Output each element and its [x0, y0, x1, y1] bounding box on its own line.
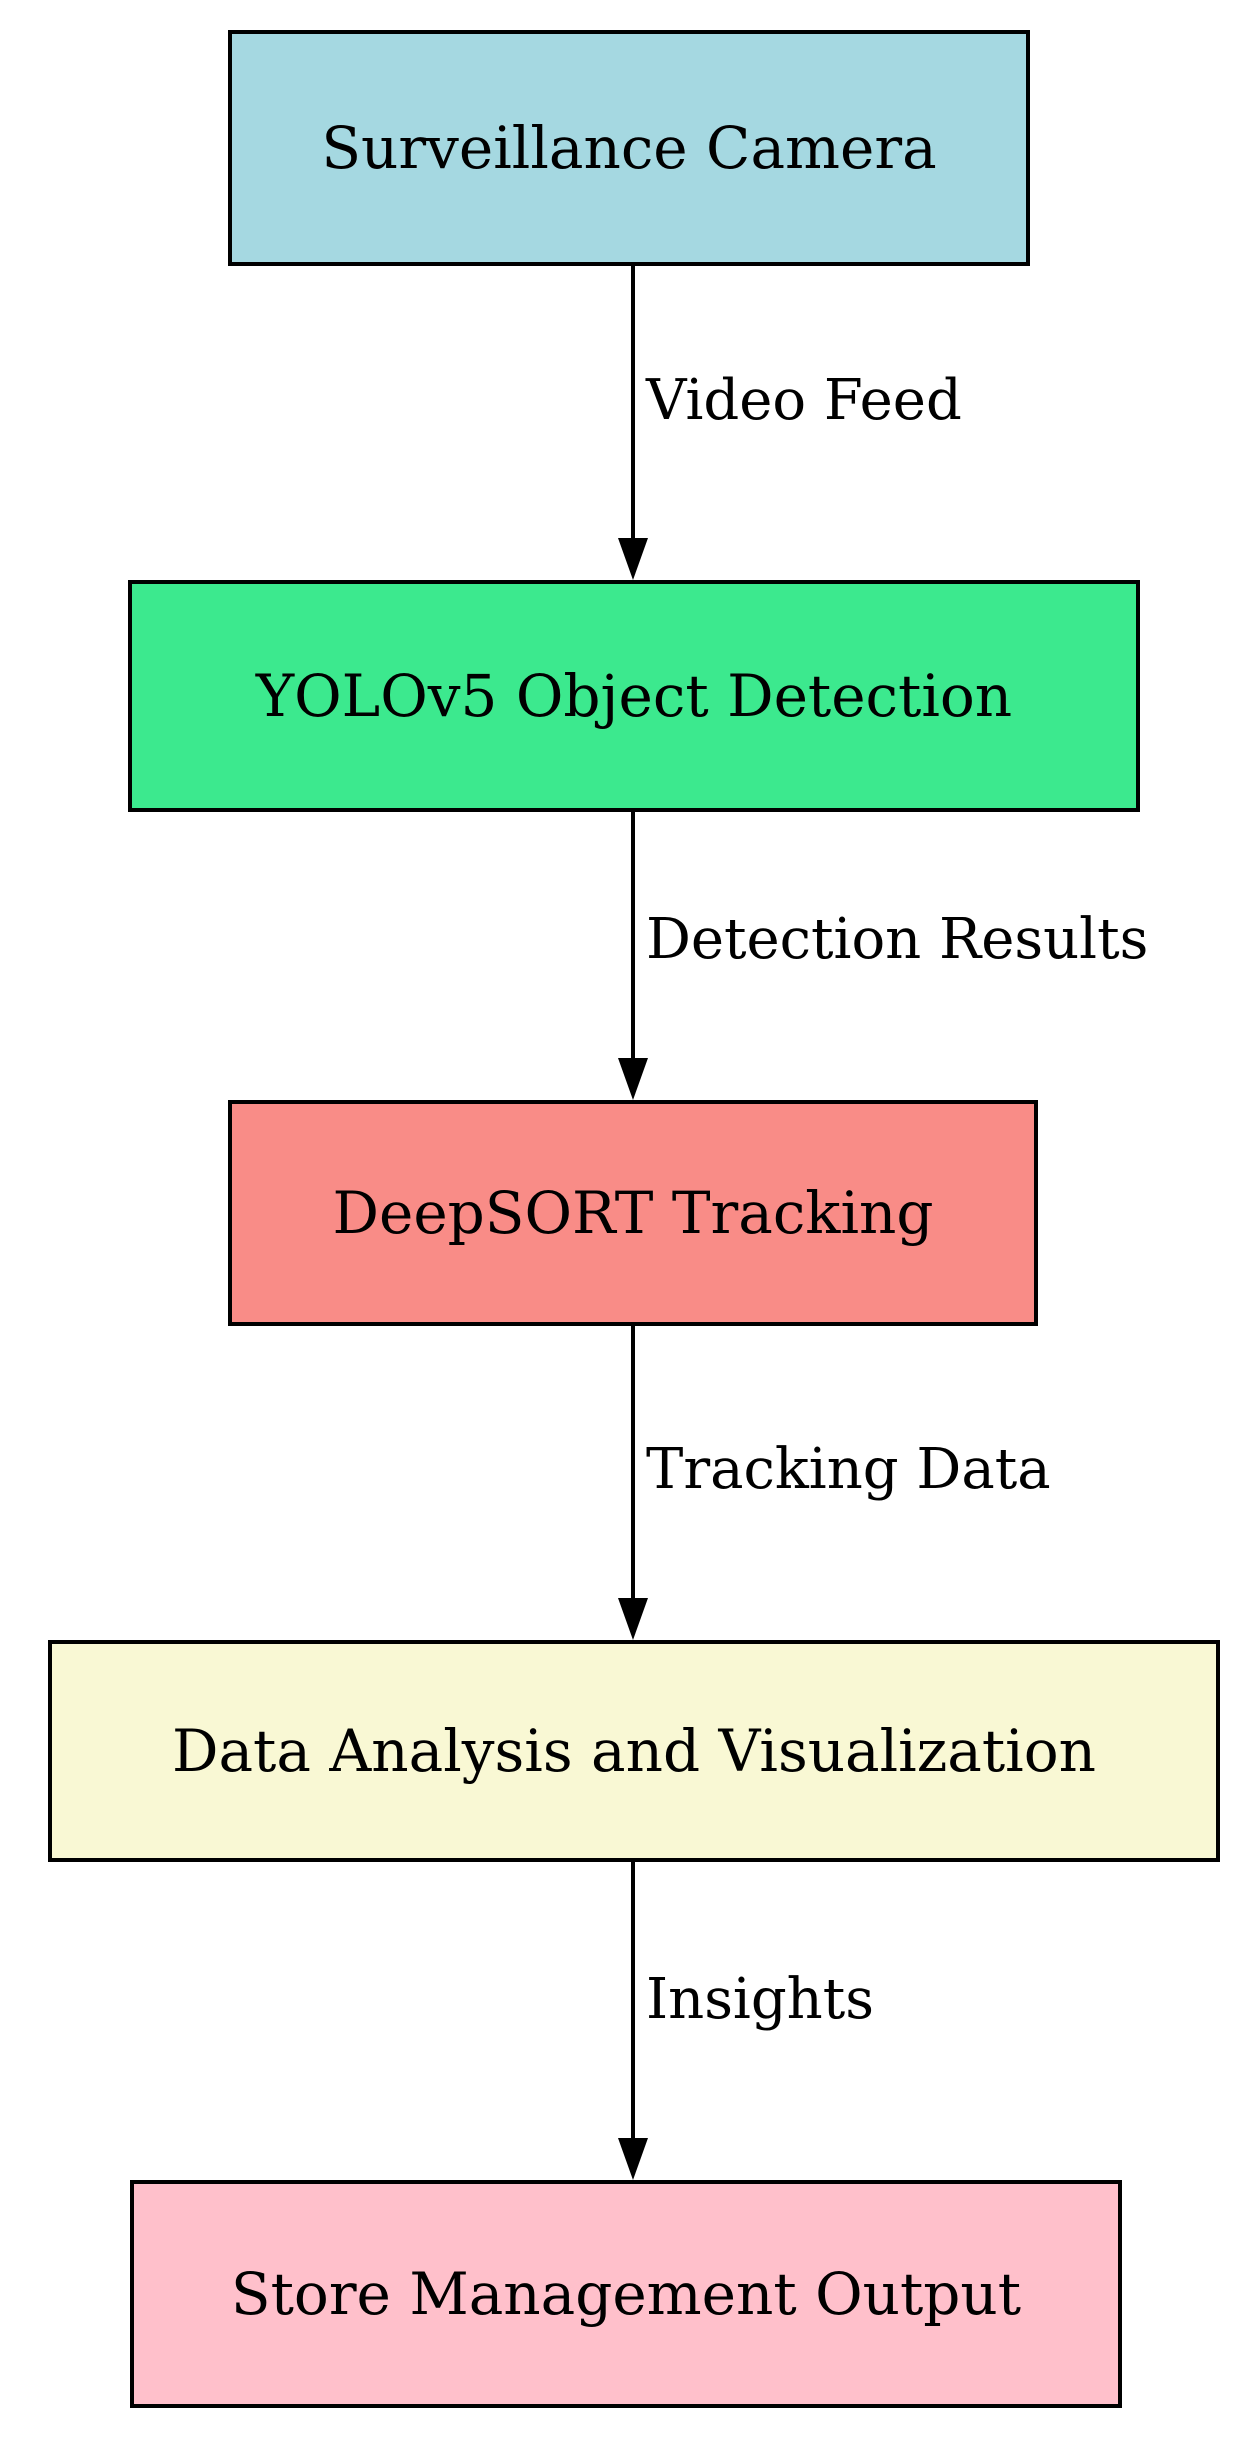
node-surveillance-camera[interactable]: Surveillance Camera: [228, 30, 1030, 266]
node-label: Surveillance Camera: [309, 118, 948, 179]
arrowhead-icon: [618, 1598, 648, 1640]
flowchart-canvas: Video FeedDetection ResultsTracking Data…: [0, 0, 1251, 2452]
edge-label: Insights: [646, 1972, 874, 2028]
arrowhead-icon: [618, 538, 648, 580]
node-label: Data Analysis and Visualization: [160, 1721, 1108, 1782]
node-deepsort-tracking[interactable]: DeepSORT Tracking: [228, 1100, 1038, 1326]
arrowhead-icon: [618, 2138, 648, 2180]
edge-label: Detection Results: [646, 912, 1148, 968]
edge-line: [631, 1326, 635, 1598]
edge-label: Video Feed: [646, 373, 962, 429]
node-label: DeepSORT Tracking: [321, 1183, 946, 1244]
node-data-analysis-and-visualization[interactable]: Data Analysis and Visualization: [48, 1640, 1220, 1862]
edge-line: [631, 266, 635, 538]
edge-line: [631, 1862, 635, 2138]
node-store-management-output[interactable]: Store Management Output: [130, 2180, 1122, 2408]
edge-line: [631, 812, 635, 1058]
node-label: YOLOv5 Object Detection: [244, 666, 1024, 727]
arrowhead-icon: [618, 1058, 648, 1100]
edge-label: Tracking Data: [646, 1442, 1051, 1498]
node-label: Store Management Output: [219, 2264, 1033, 2325]
node-yolov5-object-detection[interactable]: YOLOv5 Object Detection: [128, 580, 1140, 812]
